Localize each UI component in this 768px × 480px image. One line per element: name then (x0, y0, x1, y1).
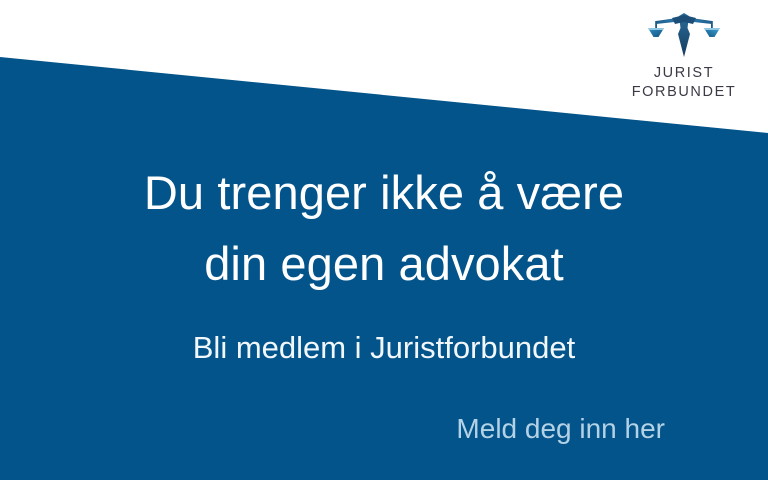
banner-content: Du trenger ikke å være din egen advokat … (0, 0, 768, 480)
headline-line-2: din egen advokat (0, 228, 768, 299)
subheadline: Bli medlem i Juristforbundet (0, 328, 768, 368)
headline-line-1: Du trenger ikke å være (0, 157, 768, 228)
signup-cta-link[interactable]: Meld deg inn her (456, 411, 665, 447)
headline: Du trenger ikke å være din egen advokat (0, 157, 768, 300)
juristforbundet-ad-banner: JURIST FORBUNDET Du trenger ikke å være … (0, 0, 768, 480)
